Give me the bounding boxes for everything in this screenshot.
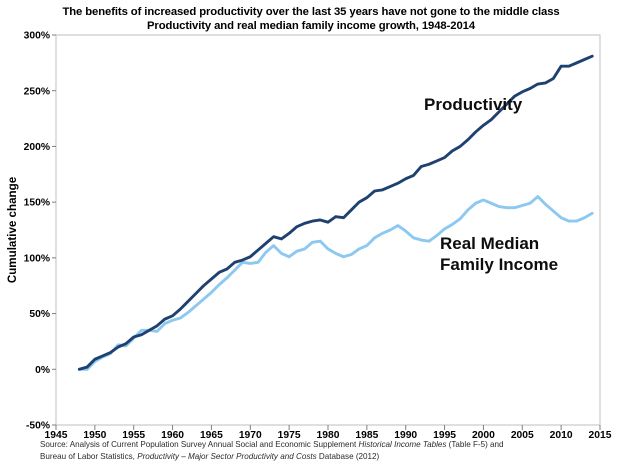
source-note: Source: Analysis of Current Population S… [40, 440, 504, 461]
y-axis-tick-label: 300% [24, 31, 50, 42]
y-axis-tick-label: 200% [24, 142, 50, 153]
source-italic-run: Historical Income Tables [359, 440, 447, 449]
productivity-income-line-chart: The benefits of increased productivity o… [0, 0, 623, 467]
source-line-2: Bureau of Labor Statistics, Productivity… [40, 452, 380, 461]
x-axis-tick-label: 2010 [550, 430, 573, 441]
income-series-label-line1: Real Median [440, 234, 539, 253]
source-plain-run: Source: Analysis of Current Population S… [40, 440, 359, 449]
x-axis-ticks: 1945195019551960196519701975198019851990… [45, 425, 612, 441]
y-axis-title: Cumulative change [6, 176, 19, 283]
income-series-label-line2: Family Income [440, 255, 558, 274]
source-plain-run: (Table F-5) and [446, 440, 503, 449]
chart-title-line2: Productivity and real median family inco… [147, 20, 476, 32]
source-plain-run: Bureau of Labor Statistics, [40, 452, 137, 461]
chart-container: The benefits of increased productivity o… [0, 0, 623, 467]
y-axis-tick-label: 250% [24, 86, 50, 97]
source-line-1: Source: Analysis of Current Population S… [40, 440, 504, 449]
chart-titles: The benefits of increased productivity o… [62, 6, 559, 32]
x-axis-tick-label: 2005 [511, 430, 534, 441]
y-axis-tick-label: 100% [24, 253, 50, 264]
x-axis-tick-label: 2015 [589, 430, 612, 441]
productivity-series-label: Productivity [424, 95, 523, 114]
chart-title-line1: The benefits of increased productivity o… [62, 6, 559, 18]
source-plain-run: Database (2012) [317, 452, 380, 461]
y-axis-ticks: -50%0%50%100%150%200%250%300% [24, 31, 56, 432]
source-italic-run: Productivity – Major Sector Productivity… [137, 452, 316, 461]
y-axis-tick-label: 50% [29, 309, 50, 320]
y-axis-tick-label: 0% [35, 365, 50, 376]
y-axis-tick-label: 150% [24, 198, 50, 209]
